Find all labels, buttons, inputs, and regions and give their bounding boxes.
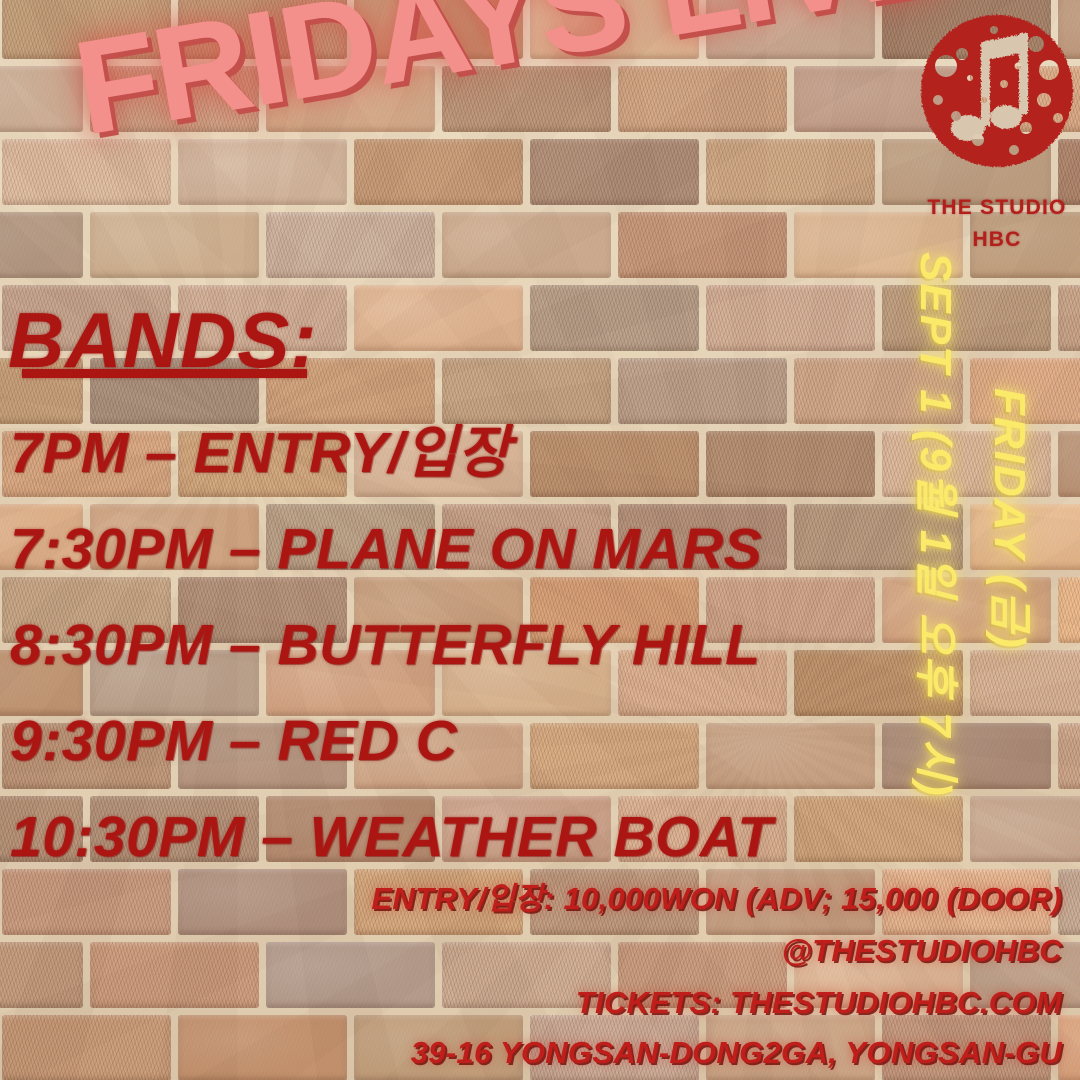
brick	[706, 285, 875, 351]
brick	[442, 212, 611, 278]
brick	[1058, 723, 1080, 789]
logo-line-1: THE STUDIO	[918, 196, 1076, 220]
brick	[1058, 577, 1080, 643]
brick	[2, 1015, 171, 1080]
event-date-vertical: SEPT 1 (9월 1일 오후 7시)	[908, 252, 972, 798]
brick	[1058, 285, 1080, 351]
event-poster: FRIDAYS LIVE	[0, 0, 1080, 1080]
lineup-row: 7PM – ENTRY/입장	[10, 405, 910, 501]
logo-line-2: HBC	[918, 228, 1076, 252]
music-note-icon	[918, 8, 1076, 174]
event-day-vertical: FRIDAY (금)	[982, 388, 1046, 650]
brick	[530, 285, 699, 351]
lineup-row: 10:30PM – WEATHER BOAT	[10, 789, 910, 885]
studio-logo: THE STUDIO HBC	[918, 6, 1078, 256]
instagram-handle[interactable]: @THESTUDIOHBC	[302, 932, 1062, 970]
brick	[178, 139, 347, 205]
brick	[706, 139, 875, 205]
tickets-link[interactable]: TICKETS: THESTUDIOHBC.COM	[302, 984, 1062, 1022]
bands-heading-underline	[22, 369, 307, 378]
brick	[618, 66, 787, 132]
brick	[90, 212, 259, 278]
lineup-row: 7:30PM – PLANE ON MARS	[10, 501, 910, 597]
lineup-list: 7PM – ENTRY/입장7:30PM – PLANE ON MARS8:30…	[10, 405, 910, 885]
brick	[1058, 431, 1080, 497]
lineup-row: 8:30PM – BUTTERFLY HILL	[10, 597, 910, 693]
brick	[354, 139, 523, 205]
brick	[90, 942, 259, 1008]
brick	[354, 285, 523, 351]
brick	[970, 796, 1080, 862]
footer-info: ENTRY/입장: 10,000WON (ADV; 15,000 (DOOR) …	[302, 880, 1062, 1072]
brick	[970, 650, 1080, 716]
brick	[618, 212, 787, 278]
venue-address: 39-16 YONGSAN-DONG2GA, YONGSAN-GU	[302, 1034, 1062, 1072]
brick	[266, 212, 435, 278]
lineup-row: 9:30PM – RED C	[10, 693, 910, 789]
brick	[0, 212, 83, 278]
brick	[530, 139, 699, 205]
entry-price-line: ENTRY/입장: 10,000WON (ADV; 15,000 (DOOR)	[302, 880, 1062, 918]
brick	[0, 942, 83, 1008]
brick	[0, 66, 83, 132]
